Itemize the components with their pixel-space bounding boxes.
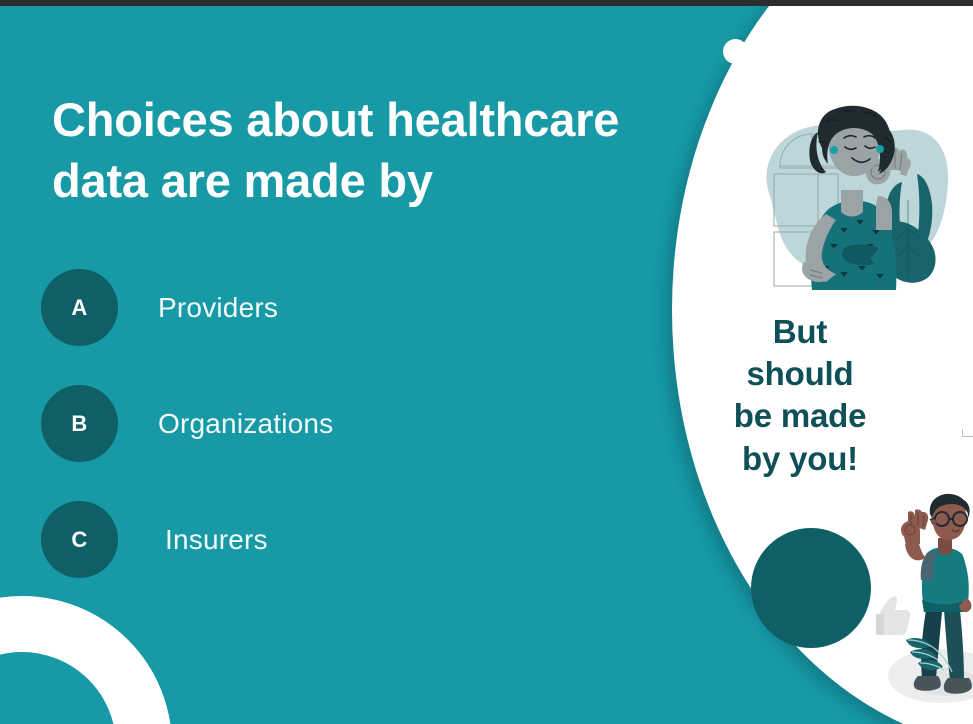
option-letter-a: A — [71, 295, 87, 321]
dot-icon — [793, 39, 818, 64]
woman-ok-gesture-illustration — [752, 104, 952, 290]
callout-line-1: But — [700, 311, 900, 353]
callout-line-3: be made — [700, 395, 900, 437]
answer-option-a[interactable]: A Providers — [41, 269, 661, 346]
top-chrome-strip — [0, 0, 973, 6]
option-badge-a[interactable]: A — [41, 269, 118, 346]
edge-artifact — [962, 429, 973, 437]
dot-icon — [758, 39, 783, 64]
dot-icon — [723, 39, 748, 64]
quiz-slide: Choices about healthcare data are made b… — [0, 0, 973, 724]
answer-option-b[interactable]: B Organizations — [41, 385, 661, 462]
callout-line-4: by you! — [700, 438, 900, 480]
option-label-b: Organizations — [158, 408, 333, 440]
decorative-dots — [723, 39, 818, 64]
callout-text: But should be made by you! — [700, 311, 900, 480]
option-label-c: Insurers — [165, 524, 268, 556]
option-letter-b: B — [71, 411, 87, 437]
page-title-line-1: Choices about healthcare — [52, 90, 692, 151]
man-ok-gesture-illustration — [876, 490, 973, 705]
option-letter-c: C — [71, 527, 87, 553]
callout-line-2: should — [700, 353, 900, 395]
corner-ring-shape — [0, 596, 172, 724]
option-badge-c[interactable]: C — [41, 501, 118, 578]
dark-circle-decoration — [751, 528, 871, 648]
corner-ring-decoration — [0, 596, 172, 724]
option-badge-b[interactable]: B — [41, 385, 118, 462]
page-title-line-2: data are made by — [52, 151, 692, 212]
answer-options-list: A Providers B Organizations C Insurers — [41, 269, 661, 578]
answer-option-c[interactable]: C Insurers — [41, 501, 661, 578]
option-label-a: Providers — [158, 292, 278, 324]
page-title: Choices about healthcare data are made b… — [52, 90, 692, 211]
